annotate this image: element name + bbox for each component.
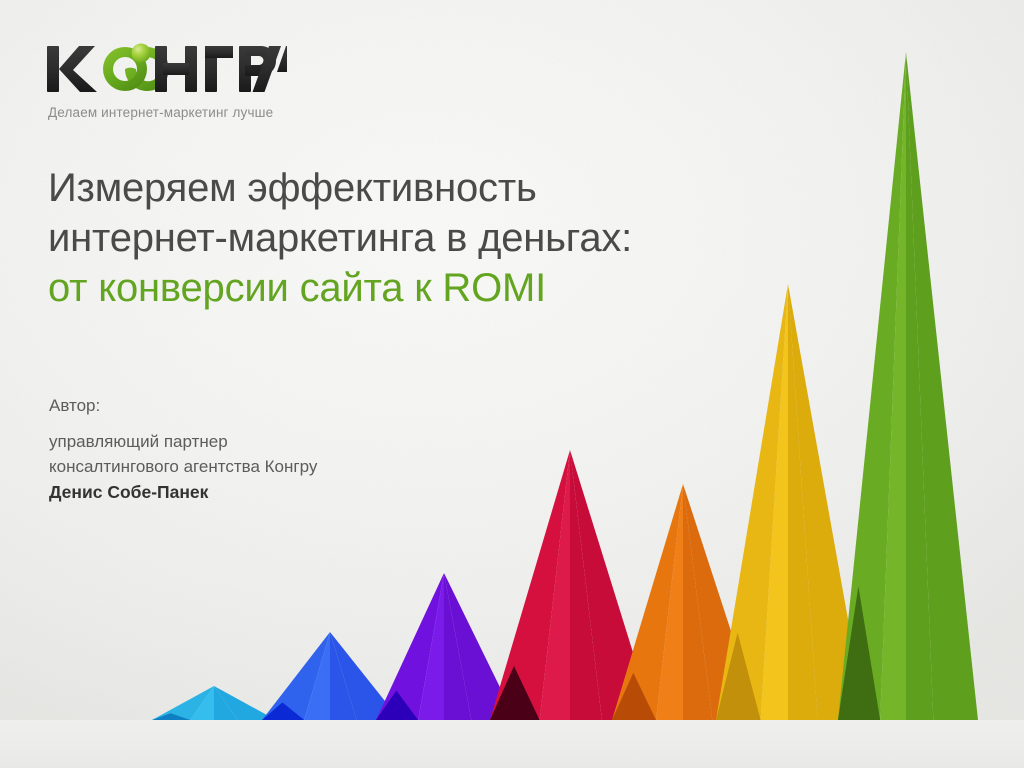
author-role-line-2: консалтингового агентства Конгру <box>49 454 509 479</box>
brand-logo[interactable]: Делаем интернет-маркетинг лучше <box>45 38 465 120</box>
logo-tagline: Делаем интернет-маркетинг лучше <box>48 105 465 120</box>
title-line-1: Измеряем эффективность <box>48 163 808 213</box>
logo-letter-g <box>205 46 233 92</box>
author-role-line-1: управляющий партнер <box>49 429 509 454</box>
logo-wordmark <box>45 38 287 100</box>
logo-letter-n <box>155 46 197 92</box>
title-line-2: интернет-маркетинга в деньгах: <box>48 213 808 263</box>
slide-title: Измеряем эффективность интернет-маркетин… <box>48 163 808 313</box>
author-name: Денис Собе-Панек <box>49 479 509 506</box>
author-label: Автор: <box>49 395 509 417</box>
title-line-3-accent: от конверсии сайта к ROMI <box>48 263 808 313</box>
logo-letter-k <box>47 46 97 92</box>
author-block: Автор: управляющий партнер консалтингово… <box>49 395 509 506</box>
presentation-slide: Делаем интернет-маркетинг лучше Измеряем… <box>0 0 1024 768</box>
